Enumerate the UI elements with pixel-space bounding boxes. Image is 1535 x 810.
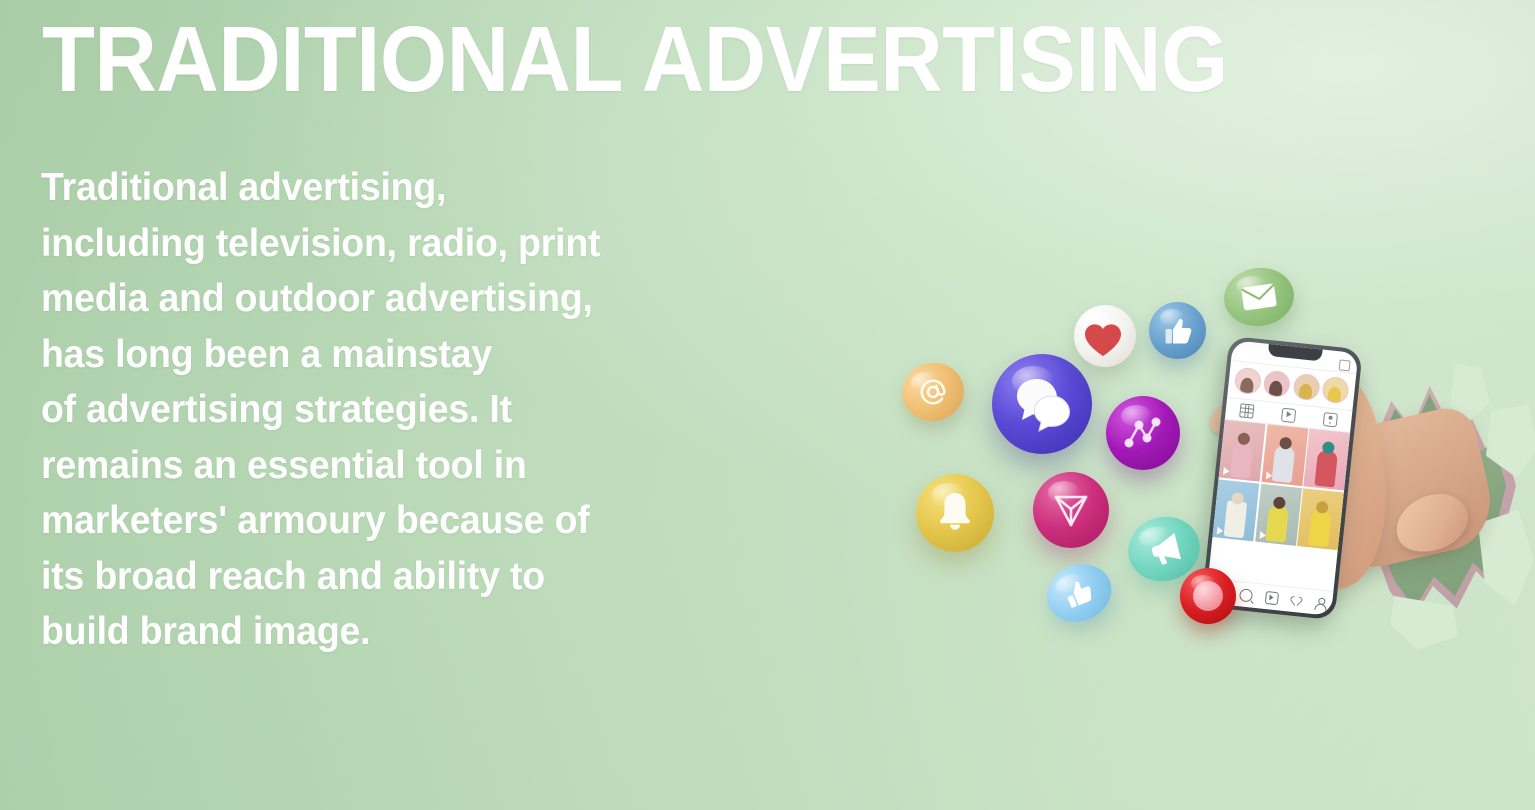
post-thumbnail[interactable] bbox=[1303, 429, 1350, 491]
search-icon[interactable] bbox=[1238, 588, 1252, 602]
chat-bubbles-icon bbox=[992, 354, 1092, 454]
paper-plane-icon bbox=[1033, 472, 1109, 548]
slide-canvas: TRADITIONAL ADVERTISING Traditional adve… bbox=[0, 0, 1535, 810]
heart-badge-core bbox=[1193, 581, 1223, 611]
thumbs-up-icon bbox=[1149, 302, 1206, 359]
body-line: including television, radio, print bbox=[41, 216, 713, 272]
heart-badge-icon bbox=[1180, 568, 1236, 624]
body-line: remains an essential tool in bbox=[41, 438, 713, 494]
post-thumbnail[interactable] bbox=[1212, 479, 1259, 541]
profile-icon[interactable] bbox=[1314, 597, 1326, 609]
paper-flap bbox=[1390, 596, 1458, 650]
paper-flap bbox=[1478, 510, 1534, 606]
body-line: its broad reach and ability to bbox=[41, 549, 713, 605]
post-thumbnail[interactable] bbox=[1261, 424, 1308, 486]
body-line: marketers' armoury because of bbox=[41, 493, 713, 549]
story-avatar[interactable] bbox=[1233, 367, 1262, 396]
grid-tab-icon[interactable] bbox=[1239, 403, 1254, 418]
page-title: TRADITIONAL ADVERTISING bbox=[42, 9, 1228, 109]
body-paragraph: Traditional advertising, including telev… bbox=[41, 160, 713, 660]
post-grid[interactable] bbox=[1212, 420, 1350, 550]
body-line: Traditional advertising, bbox=[41, 160, 713, 216]
analytics-graph-icon bbox=[1106, 396, 1180, 470]
reels-tab-icon[interactable] bbox=[1281, 407, 1296, 422]
body-line: media and outdoor advertising, bbox=[41, 271, 713, 327]
heart-icon[interactable] bbox=[1290, 594, 1302, 606]
story-avatar[interactable] bbox=[1321, 376, 1350, 405]
thumbs-up-icon bbox=[1038, 555, 1120, 632]
post-thumbnail[interactable] bbox=[1219, 420, 1266, 482]
tagged-tab-icon[interactable] bbox=[1323, 412, 1338, 427]
story-avatar[interactable] bbox=[1263, 370, 1292, 399]
body-line: of advertising strategies. It bbox=[41, 382, 713, 438]
story-avatar[interactable] bbox=[1292, 373, 1321, 402]
post-thumbnail[interactable] bbox=[1297, 488, 1344, 550]
reels-icon[interactable] bbox=[1264, 590, 1278, 604]
body-line: build brand image. bbox=[41, 604, 713, 660]
hero-illustration bbox=[880, 250, 1535, 680]
body-line: has long been a mainstay bbox=[41, 327, 713, 383]
heart-icon bbox=[1074, 305, 1136, 367]
add-post-icon[interactable] bbox=[1339, 359, 1351, 371]
at-sign-icon bbox=[895, 356, 971, 429]
bell-icon bbox=[916, 474, 994, 552]
phone-screen[interactable] bbox=[1206, 340, 1359, 616]
envelope-icon bbox=[1220, 263, 1297, 330]
post-thumbnail[interactable] bbox=[1255, 483, 1302, 545]
